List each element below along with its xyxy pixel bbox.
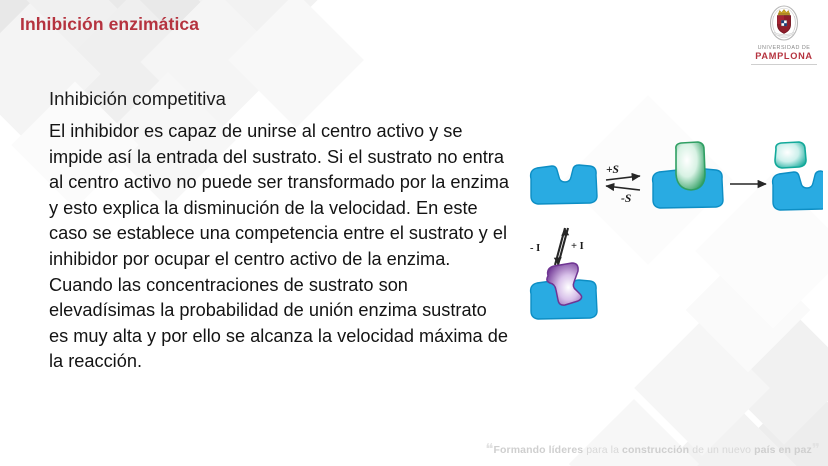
university-coat-of-arms-icon bbox=[763, 2, 805, 44]
competitive-inhibition-diagram: +S -S - I + I bbox=[518, 136, 823, 341]
footer-part-4: de un nuevo bbox=[689, 444, 754, 456]
inhibitor-equilibrium-arrows bbox=[554, 228, 569, 265]
footer-part-5: país en paz bbox=[754, 444, 812, 456]
label-plus-inhibitor: + I bbox=[571, 241, 584, 252]
node-enzyme-inhibitor-complex bbox=[531, 263, 597, 319]
body-paragraph: El inhibidor es capaz de unirse al centr… bbox=[49, 119, 509, 375]
footer-slogan: ❝Formando líderes para la construcción d… bbox=[485, 440, 820, 458]
label-minus-substrate: -S bbox=[621, 193, 631, 205]
slide-canvas: Inhibición enzimática UNIVERSIDAD DE PAM… bbox=[0, 0, 828, 466]
reaction-scheme-svg: +S -S - I + I bbox=[518, 136, 823, 341]
university-logo: UNIVERSIDAD DE PAMPLONA bbox=[748, 2, 820, 65]
close-quote-icon: ❞ bbox=[812, 441, 820, 458]
open-quote-icon: ❝ bbox=[485, 441, 493, 458]
node-enzyme-substrate-complex bbox=[653, 142, 723, 208]
section-subtitle: Inhibición competitiva bbox=[49, 88, 226, 110]
page-title: Inhibición enzimática bbox=[20, 14, 199, 35]
label-plus-substrate: +S bbox=[606, 164, 619, 176]
footer-part-1: Formando líderes bbox=[494, 444, 584, 456]
substrate-equilibrium-arrows bbox=[606, 176, 640, 190]
node-free-enzyme bbox=[531, 165, 597, 204]
logo-line-pamplona: PAMPLONA bbox=[748, 51, 820, 61]
logo-divider bbox=[751, 64, 817, 65]
node-product-released bbox=[773, 142, 823, 210]
footer-part-3: construcción bbox=[622, 444, 689, 456]
label-minus-inhibitor: - I bbox=[530, 243, 540, 254]
footer-part-2: para la bbox=[583, 444, 622, 456]
